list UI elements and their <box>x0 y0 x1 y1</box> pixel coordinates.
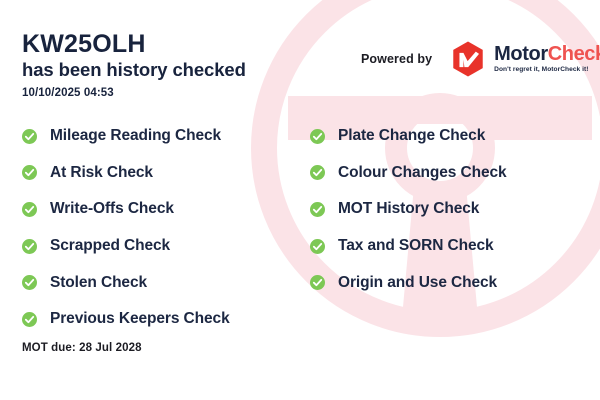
check-label: Scrapped Check <box>50 237 170 255</box>
green-check-circle-icon <box>22 165 37 180</box>
brand-tagline: Don't regret it, MotorCheck it! <box>494 67 600 74</box>
green-check-circle-icon <box>310 275 325 290</box>
green-check-circle-icon <box>22 129 37 144</box>
green-check-circle-icon <box>22 312 37 327</box>
check-label: Plate Change Check <box>338 127 485 145</box>
list-item: At Risk Check <box>22 155 312 192</box>
list-item: Plate Change Check <box>310 118 600 155</box>
green-check-circle-icon <box>22 239 37 254</box>
list-item: Colour Changes Check <box>310 155 600 192</box>
mot-due-label: MOT due: 28 Jul 2028 <box>22 342 142 354</box>
check-label: Previous Keepers Check <box>50 310 230 328</box>
check-label: At Risk Check <box>50 164 153 182</box>
green-check-circle-icon <box>310 202 325 217</box>
motorcheck-wordmark: MotorCheck Don't regret it, MotorCheck i… <box>494 44 600 74</box>
powered-by-branding: Powered by MotorCheck Don't regret it, M… <box>361 40 600 78</box>
check-label: MOT History Check <box>338 200 479 218</box>
list-item: Stolen Check <box>22 264 312 301</box>
green-check-circle-icon <box>310 239 325 254</box>
wordmark-check: Check <box>548 43 600 65</box>
motorcheck-history-summary-card: KW25OLH has been history checked 10/10/2… <box>0 0 600 400</box>
list-item: Mileage Reading Check <box>22 118 312 155</box>
page-title: has been history checked <box>22 59 246 82</box>
wordmark-motor: Motor <box>494 43 548 65</box>
check-label: Colour Changes Check <box>338 164 507 182</box>
list-item: MOT History Check <box>310 191 600 228</box>
check-label: Write-Offs Check <box>50 200 174 218</box>
list-item: Origin and Use Check <box>310 264 600 301</box>
check-timestamp: 10/10/2025 04:53 <box>22 87 246 99</box>
checklist-left-column: Mileage Reading Check At Risk Check Writ… <box>22 118 312 338</box>
check-label: Mileage Reading Check <box>50 127 221 145</box>
registration-plate: KW25OLH <box>22 30 246 58</box>
green-check-circle-icon <box>310 129 325 144</box>
green-check-circle-icon <box>310 165 325 180</box>
green-check-circle-icon <box>22 202 37 217</box>
check-label: Tax and SORN Check <box>338 237 494 255</box>
motorcheck-hexagon-logo-icon <box>449 40 487 78</box>
list-item: Tax and SORN Check <box>310 228 600 265</box>
check-label: Stolen Check <box>50 274 147 292</box>
card-header: KW25OLH has been history checked 10/10/2… <box>22 30 246 99</box>
list-item: Scrapped Check <box>22 228 312 265</box>
checklist-right-column: Plate Change Check Colour Changes Check … <box>310 118 600 301</box>
check-label: Origin and Use Check <box>338 274 497 292</box>
list-item: Previous Keepers Check <box>22 301 312 338</box>
list-item: Write-Offs Check <box>22 191 312 228</box>
wordmark-line: MotorCheck <box>494 44 600 64</box>
green-check-circle-icon <box>22 275 37 290</box>
powered-by-label: Powered by <box>361 52 432 66</box>
